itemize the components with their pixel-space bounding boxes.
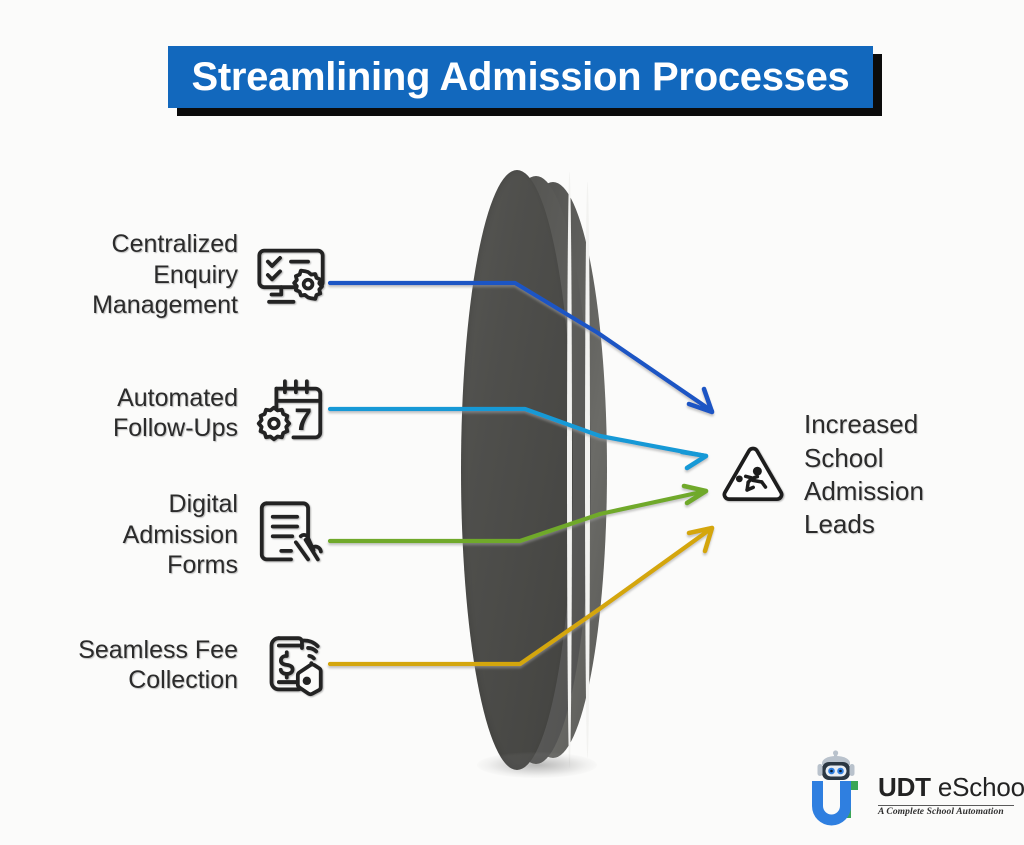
- page-title: Streamlining Admission Processes: [191, 55, 849, 100]
- contactless-payment-icon: [252, 626, 330, 704]
- feature-centralized-enquiry-management[interactable]: Centralized Enquiry Management: [0, 222, 330, 328]
- feature-automated-follow-ups[interactable]: Automated Follow-Ups 7: [0, 370, 330, 456]
- feature-label: Automated Follow-Ups: [113, 383, 238, 444]
- feature-label: Centralized Enquiry Management: [92, 229, 238, 321]
- feature-seamless-fee-collection[interactable]: Seamless Fee Collection: [0, 622, 330, 708]
- outcome-increased-admission-leads[interactable]: Increased School Admission Leads: [718, 395, 1018, 555]
- feature-label: Digital Admission Forms: [123, 489, 238, 581]
- tablet-hand-form-icon: [252, 496, 330, 574]
- checklist-settings-icon: [252, 236, 330, 314]
- calendar-gear-icon: 7: [252, 374, 330, 452]
- svg-text:7: 7: [294, 401, 312, 437]
- logo-wordmark: UDT eSchool A Complete School Automation: [878, 762, 1024, 817]
- disc-seam-inner: [585, 182, 590, 758]
- children-crossing-warning-icon: [718, 440, 788, 510]
- logo-brand-bold: UDT: [878, 772, 931, 802]
- disc-front-face: [461, 170, 573, 770]
- logo-tagline: A Complete School Automation: [878, 807, 1024, 817]
- feature-label: Seamless Fee Collection: [78, 635, 238, 696]
- outcome-label: Increased School Admission Leads: [804, 408, 924, 541]
- central-disc: [455, 170, 625, 770]
- brand-logo[interactable]: UDT eSchool A Complete School Automation: [800, 748, 1012, 830]
- title-banner: Streamlining Admission Processes: [168, 46, 873, 108]
- logo-brand-light: eSchool: [931, 772, 1024, 802]
- disc-seam-outer: [567, 172, 572, 768]
- feature-digital-admission-forms[interactable]: Digital Admission Forms: [0, 482, 330, 588]
- logo-divider: [878, 805, 1014, 806]
- robot-head-icon: [818, 750, 855, 780]
- udt-eschool-logo-mark: [800, 749, 874, 829]
- disc-ground-shadow: [477, 752, 597, 778]
- logo-brand-name: UDT eSchool: [878, 772, 1024, 803]
- infographic-canvas: Streamlining Admission Processes: [0, 0, 1024, 845]
